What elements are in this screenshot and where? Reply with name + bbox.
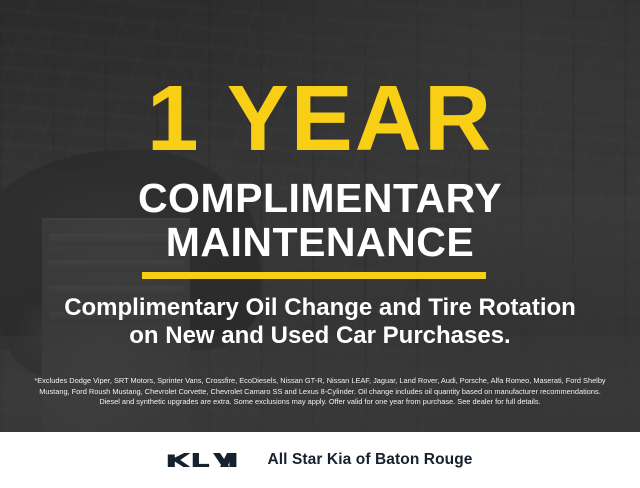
footer-bar: All Star Kia of Baton Rouge (0, 432, 640, 488)
offer-description-line-2: on New and Used Car Purchases. (0, 322, 640, 350)
headline-maintenance: MAINTENANCE (0, 222, 640, 263)
headline-complimentary: COMPLIMENTARY (0, 178, 640, 219)
dealer-name: All Star Kia of Baton Rouge (267, 451, 472, 469)
kia-logo-icon (167, 449, 245, 471)
banner-content: 1 YEAR COMPLIMENTARY MAINTENANCE Complim… (0, 0, 640, 488)
disclaimer-line-3: Diesel and synthetic upgrades are extra.… (14, 397, 626, 408)
promo-banner: 1 YEAR COMPLIMENTARY MAINTENANCE Complim… (0, 0, 640, 488)
headline-year: 1 YEAR (0, 72, 640, 165)
yellow-divider-rule (142, 272, 486, 279)
footer-brand-group: All Star Kia of Baton Rouge (167, 449, 472, 471)
disclaimer-line-2: Mustang, Ford Roush Mustang, Chevrolet C… (14, 387, 626, 398)
disclaimer-text: *Excludes Dodge Viper, SRT Motors, Sprin… (14, 376, 626, 408)
offer-description-line-1: Complimentary Oil Change and Tire Rotati… (0, 294, 640, 322)
disclaimer-line-1: *Excludes Dodge Viper, SRT Motors, Sprin… (14, 376, 626, 387)
